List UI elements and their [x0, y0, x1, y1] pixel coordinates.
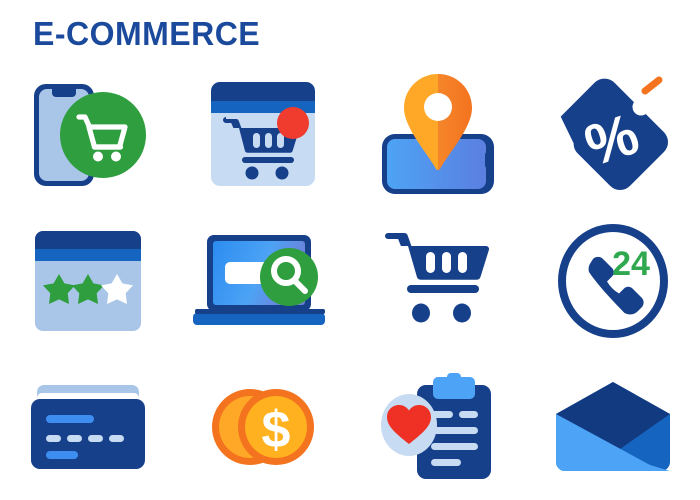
icon-cell-credit-card[interactable]: [0, 354, 175, 500]
icon-cell-product-search[interactable]: [175, 208, 350, 354]
icon-cell-wishlist-clipboard[interactable]: [350, 354, 525, 500]
product-search-icon: [195, 229, 331, 333]
tag-string: [645, 80, 659, 91]
icon-cell-discount-tag[interactable]: %: [525, 62, 700, 208]
discount-tag-icon: %: [553, 75, 673, 195]
dollar-glyph: $: [261, 401, 290, 459]
cart-glyph: [385, 233, 489, 323]
delivery-location-icon: [376, 72, 500, 198]
icon-cell-product-rating[interactable]: [0, 208, 175, 354]
cart-wheel-right: [111, 152, 121, 162]
shopping-cart-icon: [383, 227, 493, 335]
email-envelope-icon: [554, 382, 672, 472]
mobile-shopping-icon: [26, 76, 150, 194]
online-store-cart-icon: [208, 79, 318, 191]
icon-cell-shopping-cart[interactable]: [350, 208, 525, 354]
support-badge-text: 24: [612, 245, 650, 283]
icon-cell-online-store-cart[interactable]: [175, 62, 350, 208]
map-pin-hole: [424, 93, 452, 121]
product-rating-icon: [32, 229, 144, 333]
cart-wheel-left: [93, 152, 103, 162]
page-title: E-COMMERCE: [33, 17, 260, 50]
credit-card-icon: [29, 383, 147, 471]
notification-dot: [277, 107, 309, 139]
coins-money-icon: $: [210, 377, 316, 477]
tag-hole: [632, 99, 649, 116]
cart-bars: [253, 133, 284, 148]
icon-cell-mobile-shopping[interactable]: [0, 62, 175, 208]
icon-cell-email-envelope[interactable]: [525, 354, 700, 500]
wishlist-clipboard-icon: [379, 373, 497, 481]
green-badge-circle: [60, 92, 146, 178]
support-24-icon: 24: [557, 225, 669, 337]
icon-grid: %: [0, 62, 700, 500]
icon-cell-support-24[interactable]: 24: [525, 208, 700, 354]
icon-cell-coins-money[interactable]: $: [175, 354, 350, 500]
cart-bars: [426, 252, 467, 273]
icon-cell-delivery-location[interactable]: [350, 62, 525, 208]
